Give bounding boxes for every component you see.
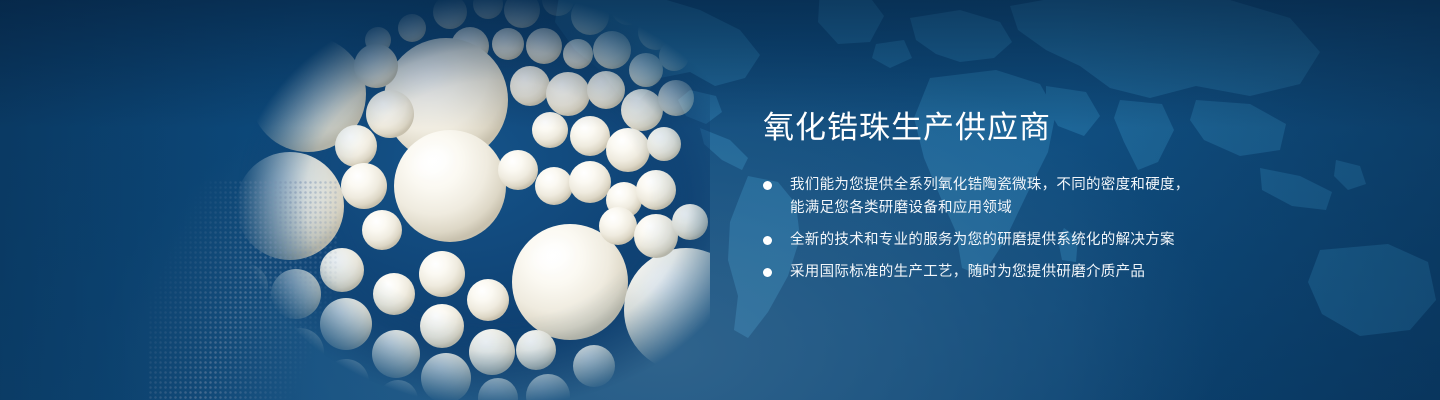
bullet-item-1-line2: 能满足您各类研磨设备和应用领域 xyxy=(790,197,1233,220)
banner-text-block: 氧化锆珠生产供应商 我们能为您提供全系列氧化锆陶瓷微珠，不同的密度和硬度， 能满… xyxy=(763,108,1233,284)
hero-banner: 氧化锆珠生产供应商 我们能为您提供全系列氧化锆陶瓷微珠，不同的密度和硬度， 能满… xyxy=(0,0,1440,400)
bullet-dot-icon xyxy=(763,236,772,245)
bullet-item-1-line1: 我们能为您提供全系列氧化锆陶瓷微珠，不同的密度和硬度， xyxy=(790,177,1190,193)
bullet-item-2-line1: 全新的技术和专业的服务为您的研磨提供系统化的解决方案 xyxy=(790,232,1175,248)
bullet-dot-icon xyxy=(763,268,772,277)
bullet-item-3: 采用国际标准的生产工艺，随时为您提供研磨介质产品 xyxy=(763,261,1233,284)
bullet-item-3-line1: 采用国际标准的生产工艺，随时为您提供研磨介质产品 xyxy=(790,264,1145,280)
banner-bullet-list: 我们能为您提供全系列氧化锆陶瓷微珠，不同的密度和硬度， 能满足您各类研磨设备和应… xyxy=(763,174,1233,284)
bullet-dot-icon xyxy=(763,181,772,190)
bullet-item-1: 我们能为您提供全系列氧化锆陶瓷微珠，不同的密度和硬度， 能满足您各类研磨设备和应… xyxy=(763,174,1233,220)
zirconia-beads-photo xyxy=(150,0,710,400)
banner-headline: 氧化锆珠生产供应商 xyxy=(763,108,1233,148)
bullet-item-2: 全新的技术和专业的服务为您的研磨提供系统化的解决方案 xyxy=(763,229,1233,252)
